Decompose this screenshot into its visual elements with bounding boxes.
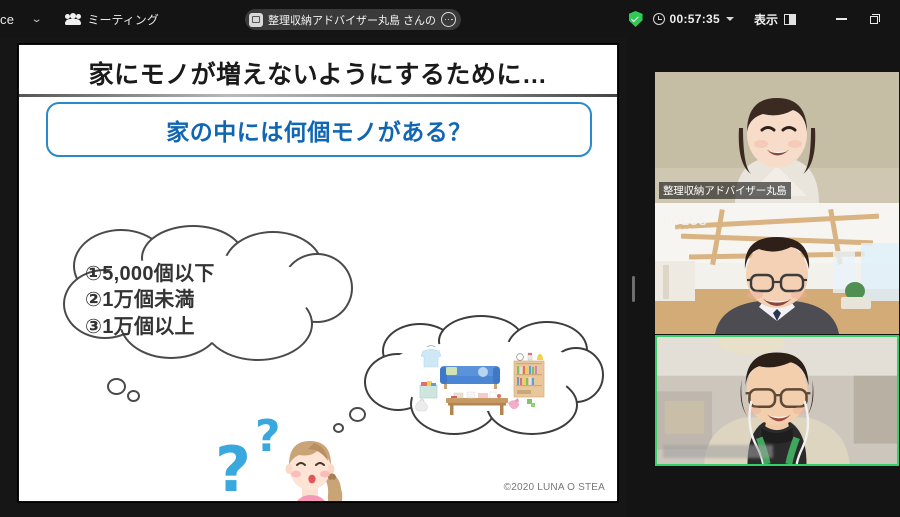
answer-list: ①5,000個以下 ②1万個未満 ③1万個以上	[85, 261, 335, 340]
question-text: 家の中には何個モノがある？	[166, 113, 472, 147]
participant-name-label: 整理収納アドバイザー丸島	[659, 182, 791, 199]
more-options-icon[interactable]	[441, 12, 456, 27]
participant-tile[interactable]: 整理収納アドバイザー丸島	[655, 72, 899, 203]
title-bar-left: ce ⌄ ミーティング	[0, 11, 159, 28]
thought-trail-bubble	[107, 378, 126, 395]
title-bar: ce ⌄ ミーティング 整理収納アドバイザー丸島 さんの 00:57:35 表示	[0, 0, 900, 38]
answer-option-2: ②1万個未満	[85, 287, 335, 313]
screen-share-title: 整理収納アドバイザー丸島 さんの	[268, 12, 436, 28]
slide-title: 家にモノが増えないようにするために…	[19, 55, 617, 91]
view-layout-label: 表示	[754, 11, 778, 28]
screen-share-icon	[249, 13, 263, 27]
restore-window-icon	[870, 14, 880, 24]
question-mark-large: ?	[215, 433, 251, 502]
minimize-icon	[836, 18, 847, 19]
drag-handle-icon[interactable]	[632, 276, 635, 302]
chevron-down-icon[interactable]	[726, 17, 734, 21]
meeting-timer[interactable]: 00:57:35	[653, 12, 734, 26]
people-icon	[65, 13, 81, 26]
title-divider-rule	[19, 94, 617, 97]
answer-option-1: ①5,000個以下	[85, 261, 335, 287]
answers-thought-bubble: ①5,000個以下 ②1万個未満 ③1万個以上	[63, 225, 353, 370]
presentation-slide: 家にモノが増えないようにするために… 家の中には何個モノがある？ ①5,000個…	[18, 44, 618, 502]
participant-video-panel: 整理収納アドバイザー丸島	[639, 38, 900, 517]
screen-share-pill[interactable]: 整理収納アドバイザー丸島 さんの	[245, 9, 461, 30]
participant-tile-active-speaker[interactable]	[655, 335, 899, 466]
shared-screen-stage[interactable]: 家にモノが増えないようにするために… 家の中には何個モノがある？ ①5,000個…	[0, 38, 633, 517]
participant-name-label-blurred	[663, 445, 773, 458]
answer-option-3: ③1万個以上	[85, 314, 335, 340]
clock-icon	[653, 13, 665, 25]
polus-watermark: グループ POLUS ポラス	[663, 209, 707, 233]
meeting-window: ce ⌄ ミーティング 整理収納アドバイザー丸島 さんの 00:57:35 表示	[0, 0, 900, 517]
shield-check-icon	[629, 11, 643, 27]
room-illustration	[410, 341, 570, 421]
thinking-woman-illustration	[272, 427, 350, 502]
layout-icon	[784, 14, 796, 25]
title-bar-right: 00:57:35 表示	[629, 0, 900, 38]
chevron-down-icon[interactable]: ⌄	[8, 14, 48, 25]
polus-watermark-sub-bottom: ポラス	[663, 227, 707, 233]
view-layout-button[interactable]: 表示	[754, 11, 796, 28]
question-box: 家の中には何個モノがある？	[46, 102, 592, 157]
meeting-tab-label: ミーティング	[88, 11, 159, 28]
minimize-button[interactable]	[824, 0, 858, 38]
thought-trail-bubble	[127, 390, 140, 402]
window-edge	[892, 0, 900, 38]
restore-button[interactable]	[858, 0, 892, 38]
thought-trail-bubble	[349, 407, 366, 422]
meeting-timer-value: 00:57:35	[670, 12, 720, 26]
room-thought-bubble	[364, 315, 604, 440]
panel-divider[interactable]	[627, 38, 639, 517]
participant-tile[interactable]: グループ POLUS ポラス	[655, 203, 899, 334]
copyright-text: ©2020 LUNA O STEA	[504, 482, 605, 493]
polus-watermark-text: POLUS	[663, 215, 707, 227]
meeting-tab[interactable]: ミーティング	[65, 11, 159, 28]
